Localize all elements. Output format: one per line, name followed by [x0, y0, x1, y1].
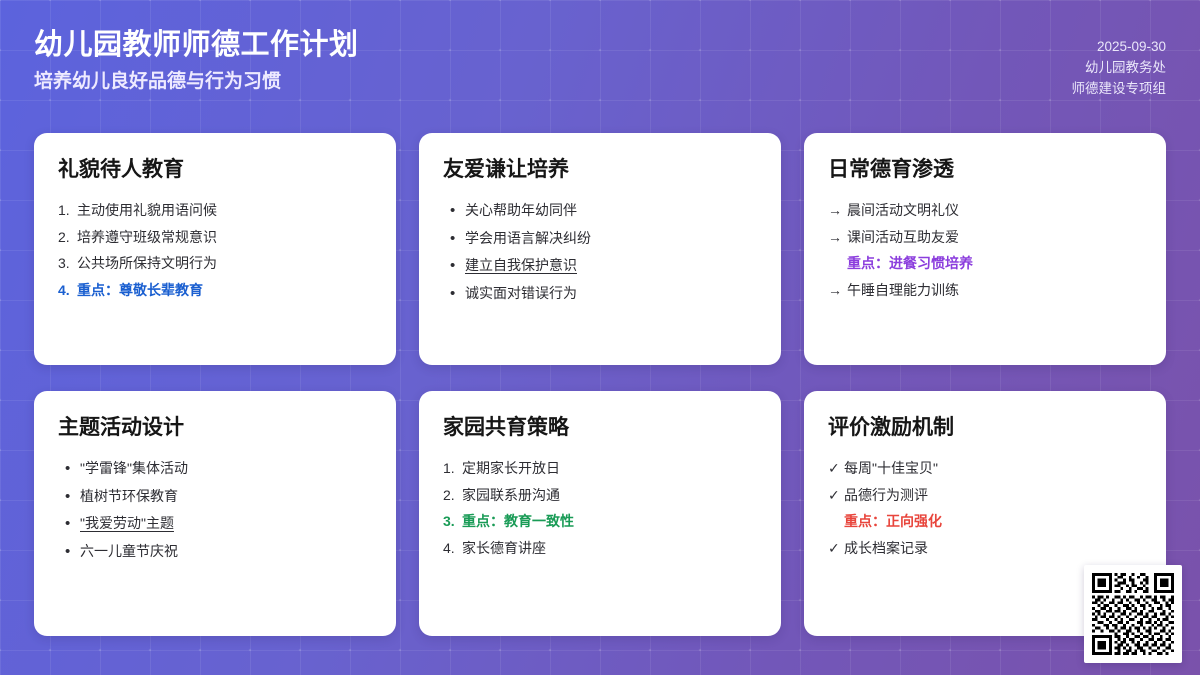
card-item-list: •"学雷锋"集体活动•植树节环保教育•"我爱劳动"主题•六一儿童节庆祝 [58, 455, 372, 565]
list-item-text: 家园联系册沟通 [462, 482, 560, 509]
list-item: 2.培养遵守班级常规意识 [58, 224, 372, 251]
list-item-marker: 1. [58, 197, 77, 224]
header-team: 师德建设专项组 [1072, 78, 1167, 99]
list-item-marker: • [58, 456, 80, 483]
list-item: 重点：进餐习惯培养 [828, 250, 1142, 277]
list-item: →晨间活动文明礼仪 [828, 197, 1142, 224]
page-subtitle: 培养幼儿良好品德与行为习惯 [34, 68, 359, 96]
list-item-text: 关心帮助年幼同伴 [465, 197, 577, 224]
list-item-marker: • [58, 484, 80, 511]
header-date: 2025-09-30 [1072, 36, 1167, 57]
card-title: 友爱谦让培养 [443, 155, 757, 185]
list-item-marker: • [443, 253, 465, 280]
card-item-list: •关心帮助年幼同伴•学会用语言解决纠纷•建立自我保护意识•诚实面对错误行为 [443, 197, 757, 307]
list-item-marker: • [58, 539, 80, 566]
list-item-marker: 2. [58, 224, 77, 251]
list-item-text: 主动使用礼貌用语问候 [77, 197, 217, 224]
list-item-marker: ✓ [828, 482, 844, 509]
slide-header: 幼儿园教师师德工作计划 培养幼儿良好品德与行为习惯 2025-09-30 幼儿园… [0, 0, 1200, 118]
list-item-text: 家长德育讲座 [462, 535, 546, 562]
list-item: •"学雷锋"集体活动 [58, 455, 372, 483]
qr-code-panel[interactable] [1084, 565, 1182, 663]
list-item: 1.主动使用礼貌用语问候 [58, 197, 372, 224]
list-item-text: 公共场所保持文明行为 [77, 250, 217, 277]
list-item-text: 课间活动互助友爱 [847, 224, 959, 251]
list-item-marker: ✓ [828, 535, 844, 562]
list-item: •建立自我保护意识 [443, 252, 757, 280]
qr-code-icon [1092, 573, 1174, 655]
list-item-text: "我爱劳动"主题 [80, 510, 174, 537]
list-item: 4.家长德育讲座 [443, 535, 757, 562]
slide-root: 幼儿园教师师德工作计划 培养幼儿良好品德与行为习惯 2025-09-30 幼儿园… [0, 0, 1200, 675]
list-item-marker: 4. [443, 535, 462, 562]
list-item-text: 学会用语言解决纠纷 [465, 225, 591, 252]
header-meta-block: 2025-09-30 幼儿园教务处 师德建设专项组 [1072, 36, 1167, 99]
list-item-marker: • [443, 281, 465, 308]
list-item-marker: → [828, 197, 847, 224]
card-title: 礼貌待人教育 [58, 155, 372, 185]
list-item: ✓每周"十佳宝贝" [828, 455, 1142, 482]
card-item-list: ✓每周"十佳宝贝"✓品德行为测评重点：正向强化✓成长档案记录 [828, 455, 1142, 561]
list-item-marker: 4. [58, 277, 77, 304]
list-item-text: 重点：教育一致性 [462, 508, 574, 535]
list-item: 3.重点：教育一致性 [443, 508, 757, 535]
list-item-marker: • [443, 198, 465, 225]
list-item-text: 每周"十佳宝贝" [844, 455, 938, 482]
list-item: •植树节环保教育 [58, 483, 372, 511]
list-item-marker: 2. [443, 482, 462, 509]
list-item-text: 品德行为测评 [844, 482, 928, 509]
list-item-marker: 3. [58, 250, 77, 277]
content-card: 主题活动设计•"学雷锋"集体活动•植树节环保教育•"我爱劳动"主题•六一儿童节庆… [34, 391, 396, 636]
list-item-text: 六一儿童节庆祝 [80, 538, 178, 565]
card-title: 日常德育渗透 [828, 155, 1142, 185]
page-title: 幼儿园教师师德工作计划 [34, 26, 359, 64]
list-item: 1.定期家长开放日 [443, 455, 757, 482]
list-item: •学会用语言解决纠纷 [443, 225, 757, 253]
list-item-marker: ✓ [828, 455, 844, 482]
list-item-marker: → [828, 277, 847, 304]
list-item-text: "学雷锋"集体活动 [80, 455, 188, 482]
list-item-text: 建立自我保护意识 [465, 252, 577, 279]
content-card: 日常德育渗透→晨间活动文明礼仪→课间活动互助友爱重点：进餐习惯培养→午睡自理能力… [804, 133, 1166, 365]
list-item-text: 诚实面对错误行为 [465, 280, 577, 307]
list-item: →课间活动互助友爱 [828, 224, 1142, 251]
list-item-marker: • [58, 511, 80, 538]
list-item: →午睡自理能力训练 [828, 277, 1142, 304]
list-item-text: 晨间活动文明礼仪 [847, 197, 959, 224]
card-item-list: 1.主动使用礼貌用语问候2.培养遵守班级常规意识3.公共场所保持文明行为4.重点… [58, 197, 372, 303]
list-item: 2.家园联系册沟通 [443, 482, 757, 509]
card-item-list: 1.定期家长开放日2.家园联系册沟通3.重点：教育一致性4.家长德育讲座 [443, 455, 757, 561]
list-item: ✓品德行为测评 [828, 482, 1142, 509]
list-item: ✓成长档案记录 [828, 535, 1142, 562]
list-item: 4.重点：尊敬长辈教育 [58, 277, 372, 304]
list-item-text: 重点：正向强化 [844, 508, 942, 535]
list-item: 重点：正向强化 [828, 508, 1142, 535]
list-item: 3.公共场所保持文明行为 [58, 250, 372, 277]
card-title: 主题活动设计 [58, 413, 372, 443]
content-card: 家园共育策略1.定期家长开放日2.家园联系册沟通3.重点：教育一致性4.家长德育… [419, 391, 781, 636]
list-item-text: 定期家长开放日 [462, 455, 560, 482]
card-item-list: →晨间活动文明礼仪→课间活动互助友爱重点：进餐习惯培养→午睡自理能力训练 [828, 197, 1142, 303]
list-item: •"我爱劳动"主题 [58, 510, 372, 538]
list-item-marker: 3. [443, 508, 462, 535]
list-item-text: 植树节环保教育 [80, 483, 178, 510]
list-item: •关心帮助年幼同伴 [443, 197, 757, 225]
list-item-text: 培养遵守班级常规意识 [77, 224, 217, 251]
card-grid: 礼貌待人教育1.主动使用礼貌用语问候2.培养遵守班级常规意识3.公共场所保持文明… [34, 133, 1166, 636]
list-item: •六一儿童节庆祝 [58, 538, 372, 566]
header-title-block: 幼儿园教师师德工作计划 培养幼儿良好品德与行为习惯 [34, 26, 359, 96]
list-item-text: 重点：尊敬长辈教育 [77, 277, 203, 304]
list-item-text: 成长档案记录 [844, 535, 928, 562]
list-item: •诚实面对错误行为 [443, 280, 757, 308]
list-item-marker: → [828, 224, 847, 251]
content-card: 友爱谦让培养•关心帮助年幼同伴•学会用语言解决纠纷•建立自我保护意识•诚实面对错… [419, 133, 781, 365]
list-item-marker: • [443, 226, 465, 253]
header-org: 幼儿园教务处 [1072, 57, 1167, 78]
list-item-text: 午睡自理能力训练 [847, 277, 959, 304]
list-item-text: 重点：进餐习惯培养 [847, 250, 973, 277]
card-title: 评价激励机制 [828, 413, 1142, 443]
card-title: 家园共育策略 [443, 413, 757, 443]
content-card: 礼貌待人教育1.主动使用礼貌用语问候2.培养遵守班级常规意识3.公共场所保持文明… [34, 133, 396, 365]
list-item-marker: 1. [443, 455, 462, 482]
